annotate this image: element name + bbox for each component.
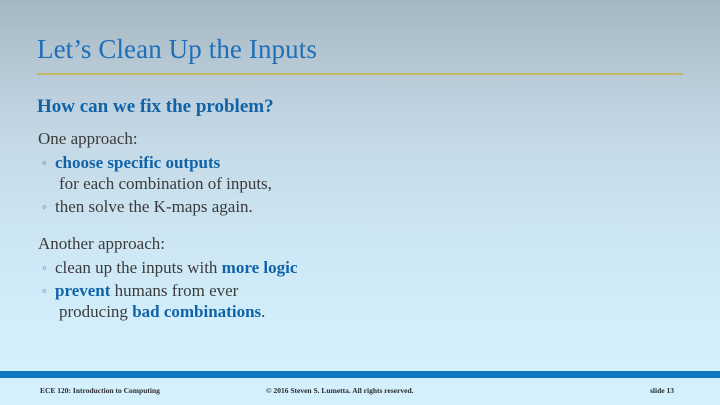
list-item: ◦ then solve the K-maps again.	[37, 196, 687, 217]
bullet-strong-text: prevent	[55, 281, 110, 300]
bullet-list-one: ◦ choose specific outputs for each combi…	[37, 152, 687, 217]
footer-course-label: ECE 120: Introduction to Computing	[40, 386, 160, 396]
slide: Let’s Clean Up the Inputs How can we fix…	[0, 0, 720, 405]
bullet-text: then solve the K-maps again.	[55, 197, 253, 216]
approach-section-one: One approach: ◦ choose specific outputs …	[37, 128, 687, 217]
bullet-text: clean up the inputs with	[55, 258, 222, 277]
slide-body: How can we fix the problem? One approach…	[37, 95, 687, 322]
hollow-circle-bullet-icon: ◦	[42, 152, 47, 173]
bullet-text: humans from ever	[110, 281, 238, 300]
bullet-continuation-strong-text: bad combinations	[132, 302, 261, 321]
approach-section-two: Another approach: ◦clean up the inputs w…	[37, 233, 687, 322]
list-item: ◦ choose specific outputs for each combi…	[37, 152, 687, 194]
body-heading: How can we fix the problem?	[37, 95, 687, 119]
footer-slide-number: slide 13	[650, 386, 674, 396]
hollow-circle-bullet-icon: ◦	[42, 196, 47, 217]
bullet-list-two: ◦clean up the inputs with more logic ◦pr…	[37, 257, 687, 322]
list-item: ◦clean up the inputs with more logic	[37, 257, 687, 278]
title-underline-rule	[37, 73, 683, 75]
section-lead-one: One approach:	[37, 128, 687, 150]
hollow-circle-bullet-icon: ◦	[42, 257, 47, 278]
bullet-strong-text: choose specific outputs	[55, 153, 220, 172]
bullet-continuation-text: producing	[59, 302, 132, 321]
bullet-continuation-line: producing bad combinations.	[55, 301, 687, 322]
footer-copyright-label: © 2016 Steven S. Lumetta. All rights res…	[266, 386, 414, 396]
footer-divider-bar	[0, 371, 720, 378]
list-item: ◦prevent humans from ever producing bad …	[37, 280, 687, 322]
bullet-strong-text: more logic	[222, 258, 298, 277]
section-lead-two: Another approach:	[37, 233, 687, 255]
bullet-continuation-text: for each combination of inputs,	[55, 173, 687, 194]
bullet-continuation-tail: .	[261, 302, 265, 321]
hollow-circle-bullet-icon: ◦	[42, 280, 47, 301]
slide-title: Let’s Clean Up the Inputs	[37, 33, 317, 65]
